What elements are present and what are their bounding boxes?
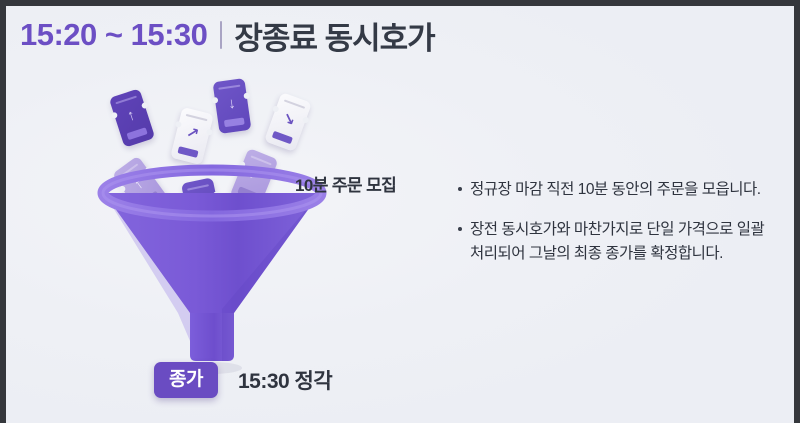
description-list-item: 정규장 마감 직전 10분 동안의 주문을 모읍니다.: [458, 178, 788, 202]
order-card: ↓: [213, 78, 252, 134]
description-list: 정규장 마감 직전 10분 동안의 주문을 모읍니다.장전 동시호가와 마찬가지…: [458, 178, 788, 283]
order-card-bar: [224, 117, 245, 127]
page-title: 장종료 동시호가: [234, 13, 434, 58]
footer: 종가 15:30 정각: [154, 362, 332, 398]
order-card-arrow-icon: ↘: [278, 110, 299, 131]
order-card-arrow-icon: ↑: [121, 106, 141, 126]
order-card-line: [218, 85, 240, 90]
order-card-arrow-icon: ↗: [183, 124, 202, 143]
order-card: ↗: [170, 107, 214, 165]
order-card-line: [284, 99, 305, 108]
header-time-range: 15:20 ~ 15:30: [20, 17, 207, 53]
order-card-bar: [177, 146, 198, 158]
order-card-line: [186, 114, 208, 121]
order-card-arrow-icon: ↓: [223, 95, 241, 113]
funnel-illustration: ↑↗↓↘↑↗↓: [76, 68, 356, 368]
order-card: ↘: [264, 92, 312, 152]
collect-label: 10분 주문 모집: [295, 171, 396, 196]
order-card-bar: [272, 131, 293, 144]
bullet-dot-icon: [458, 227, 462, 231]
bullet-dot-icon: [458, 187, 462, 191]
order-card-line: [115, 96, 137, 105]
order-card: ↑: [109, 88, 156, 147]
infographic-canvas: 15:20 ~ 15:30 장종료 동시호가 ↑↗↓↘↑↗↓: [6, 6, 794, 423]
closing-time-label: 15:30 정각: [238, 365, 332, 395]
screenshot-frame: 15:20 ~ 15:30 장종료 동시호가 ↑↗↓↘↑↗↓: [0, 0, 800, 423]
header-divider: [220, 21, 222, 49]
description-text: 정규장 마감 직전 10분 동안의 주문을 모읍니다.: [470, 178, 761, 202]
header: 15:20 ~ 15:30 장종료 동시호가: [20, 12, 435, 58]
order-card-bar: [127, 127, 148, 140]
description-list-item: 장전 동시호가와 마찬가지로 단일 가격으로 일괄 처리되어 그날의 최종 종가…: [458, 218, 788, 266]
description-text: 장전 동시호가와 마찬가지로 단일 가격으로 일괄 처리되어 그날의 최종 종가…: [470, 218, 788, 266]
closing-price-badge: 종가: [154, 362, 218, 398]
